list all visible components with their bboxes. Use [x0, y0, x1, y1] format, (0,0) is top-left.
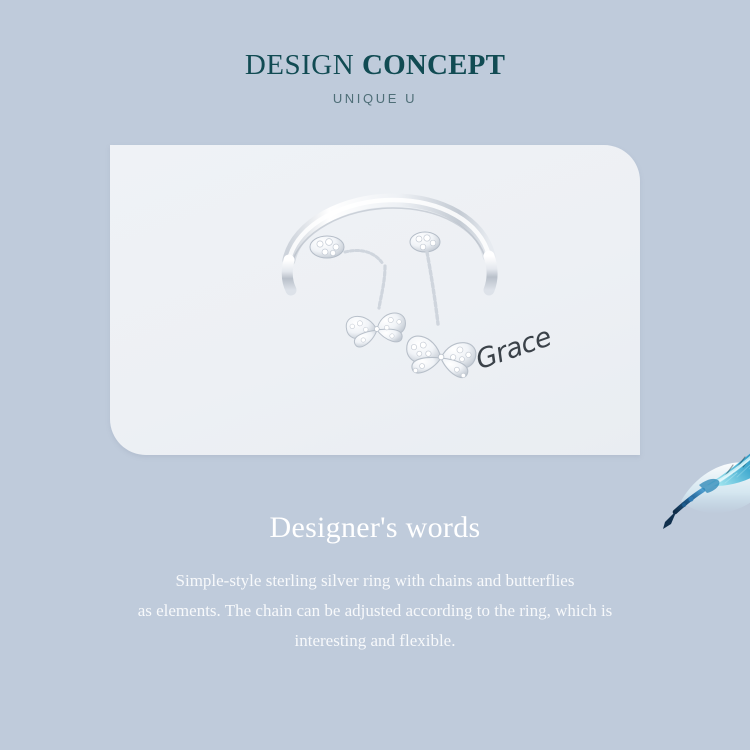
ring-illustration [275, 190, 505, 420]
designer-words-section: Designer's words Simple-style sterling s… [0, 508, 750, 656]
page-title-part-1: DESIGN [245, 49, 354, 81]
design-concept-page: DESIGN CONCEPT UNIQUE U [0, 0, 750, 750]
feather-upper-vane [707, 337, 750, 486]
feather-barbs [723, 365, 750, 479]
designer-words-line-1: Simple-style sterling silver ring with c… [55, 566, 695, 596]
page-header: DESIGN CONCEPT UNIQUE U [0, 48, 750, 106]
designer-words-line-2: as elements. The chain can be adjusted a… [55, 596, 695, 626]
ring-charm-long [404, 252, 477, 379]
ring-right-stone-cluster [410, 232, 440, 252]
ring-left-stone-cluster [310, 236, 344, 258]
feather-barbs-light [725, 420, 750, 483]
designer-words-line-3: interesting and flexible. [55, 626, 695, 656]
page-title-part-2: CONCEPT [362, 49, 505, 81]
feather-lower-vane [703, 353, 750, 489]
ring-charm-short [345, 251, 408, 349]
page-title: DESIGN CONCEPT [0, 48, 750, 82]
page-subtitle: UNIQUE U [0, 91, 750, 106]
designer-words-body: Simple-style sterling silver ring with c… [55, 566, 695, 656]
product-image-card: Grace [110, 145, 640, 455]
quill-feather-illustration [663, 323, 750, 538]
product-image-card-inner: Grace [110, 145, 640, 455]
quill-base-glow [681, 462, 750, 512]
feather-shaft [703, 336, 750, 490]
designer-words-heading: Designer's words [0, 508, 750, 548]
